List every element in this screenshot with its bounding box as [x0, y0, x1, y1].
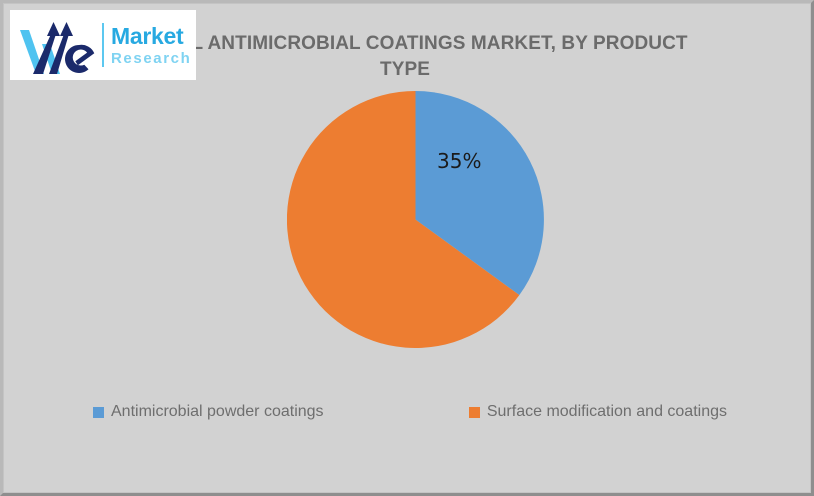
we-logo-icon [16, 14, 100, 76]
legend-item-antimicrobial-powder-coatings[interactable]: Antimicrobial powder coatings [93, 403, 324, 421]
logo-word-research: Research [111, 51, 191, 66]
chart-legend: Antimicrobial powder coatings Surface mo… [93, 403, 733, 421]
legend-label-surface-modification-and-coatings: Surface modification and coatings [487, 403, 727, 421]
logo-wordmark: Market Research [111, 25, 191, 66]
legend-item-surface-modification-and-coatings[interactable]: Surface modification and coatings [469, 403, 727, 421]
pie-chart: 35% [287, 91, 544, 348]
brand-logo: Market Research [10, 10, 196, 80]
logo-divider [102, 23, 104, 67]
logo-word-market: Market [111, 25, 191, 48]
legend-swatch-icon-blue [93, 407, 104, 418]
pie-chart-svg [287, 91, 544, 348]
legend-label-antimicrobial-powder-coatings: Antimicrobial powder coatings [111, 403, 324, 421]
chart-frame: Market Research GLOBAL ANTIMICROBIAL COA… [0, 0, 814, 496]
legend-swatch-icon-orange [469, 407, 480, 418]
pie-data-label-35: 35% [437, 149, 481, 173]
